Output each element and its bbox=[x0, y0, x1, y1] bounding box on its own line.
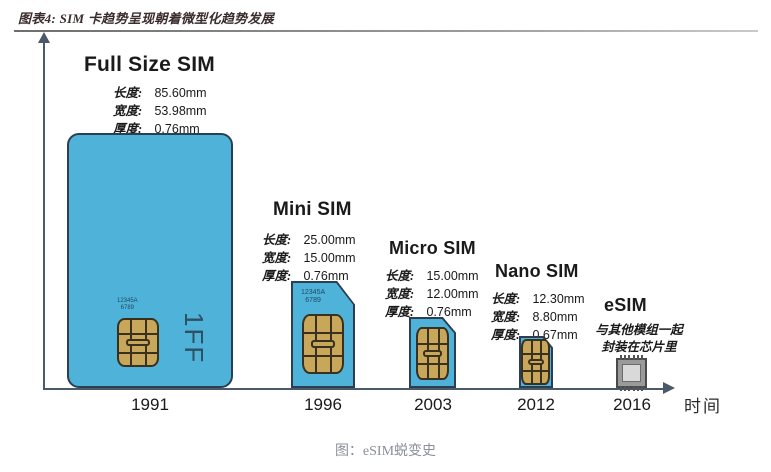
stage-title-full-size-sim: Full Size SIM bbox=[84, 53, 215, 77]
spec-label-length: 长度: bbox=[113, 84, 151, 102]
spec-row-width: 宽度: 53.98mm bbox=[113, 102, 207, 120]
spec-label-width: 宽度: bbox=[491, 308, 529, 326]
year-label-1991: 1991 bbox=[110, 395, 190, 415]
spec-label-width: 宽度: bbox=[385, 285, 423, 303]
spec-value-length: 12.30mm bbox=[532, 290, 584, 308]
figure-title: 图表4: SIM 卡趋势呈现朝着微型化趋势发展 bbox=[18, 8, 274, 27]
figure-caption: 图：eSIM蜕变史 bbox=[0, 440, 771, 460]
sim-card-nano bbox=[519, 336, 553, 388]
year-label-1996: 1996 bbox=[283, 395, 363, 415]
card-number-mini: 12345A 6789 bbox=[301, 289, 325, 304]
spec-row-width: 宽度: 12.00mm bbox=[385, 285, 479, 303]
card-number-line2: 6789 bbox=[305, 297, 321, 304]
spec-label-width: 宽度: bbox=[113, 102, 151, 120]
esim-note-line1: 与其他模组一起 bbox=[595, 323, 683, 337]
form-factor-label-1ff: 1FF bbox=[178, 312, 209, 364]
year-label-2003: 2003 bbox=[393, 395, 473, 415]
esim-chip-icon bbox=[616, 358, 647, 388]
esim-note-line2: 封装在芯片里 bbox=[601, 340, 676, 354]
spec-row-length: 长度: 85.60mm bbox=[113, 84, 207, 102]
stage-title-esim: eSIM bbox=[604, 295, 647, 316]
contact-chip-icon-mini bbox=[302, 314, 344, 374]
x-axis-arrow-icon bbox=[663, 382, 675, 394]
figure-canvas: 图表4: SIM 卡趋势呈现朝着微型化趋势发展 时间 Full Size SIM… bbox=[0, 0, 771, 472]
spec-label-length: 长度: bbox=[262, 231, 300, 249]
spec-row-length: 长度: 15.00mm bbox=[385, 267, 479, 285]
spec-value-width: 12.00mm bbox=[426, 285, 478, 303]
sim-card-micro bbox=[409, 317, 456, 388]
spec-row-length: 长度: 12.30mm bbox=[491, 290, 585, 308]
stage-title-nano-sim: Nano SIM bbox=[495, 261, 579, 282]
spec-value-width: 15.00mm bbox=[303, 249, 355, 267]
spec-list-micro-sim: 长度: 15.00mm 宽度: 12.00mm 厚度: 0.76mm bbox=[385, 267, 479, 321]
spec-row-width: 宽度: 15.00mm bbox=[262, 249, 356, 267]
contact-chip-icon-full-size bbox=[117, 318, 159, 367]
spec-list-full-size-sim: 长度: 85.60mm 宽度: 53.98mm 厚度: 0.76mm bbox=[113, 84, 207, 138]
spec-row-length: 长度: 25.00mm bbox=[262, 231, 356, 249]
y-axis-line bbox=[43, 40, 45, 390]
card-number-line1: 12345A bbox=[301, 289, 325, 296]
spec-value-length: 85.60mm bbox=[154, 84, 206, 102]
card-number-full-size: 12345A 6789 bbox=[117, 298, 138, 311]
sim-card-full-size: 12345A 6789 1FF bbox=[67, 133, 233, 388]
x-axis-line bbox=[43, 388, 668, 390]
sim-card-mini: 12345A 6789 bbox=[291, 281, 355, 388]
stage-title-mini-sim: Mini SIM bbox=[273, 199, 352, 221]
contact-chip-icon-nano bbox=[521, 339, 550, 385]
spec-list-mini-sim: 长度: 25.00mm 宽度: 15.00mm 厚度: 0.76mm bbox=[262, 231, 356, 285]
header-divider bbox=[14, 30, 758, 32]
spec-value-length: 15.00mm bbox=[426, 267, 478, 285]
spec-label-length: 长度: bbox=[385, 267, 423, 285]
spec-label-length: 长度: bbox=[491, 290, 529, 308]
year-label-2016: 2016 bbox=[592, 395, 672, 415]
spec-value-width: 53.98mm bbox=[154, 102, 206, 120]
spec-label-width: 宽度: bbox=[262, 249, 300, 267]
card-number-line2: 6789 bbox=[121, 305, 134, 311]
esim-note: 与其他模组一起 封装在芯片里 bbox=[587, 322, 691, 356]
year-label-2012: 2012 bbox=[496, 395, 576, 415]
contact-chip-icon-micro bbox=[416, 327, 449, 380]
spec-value-width: 8.80mm bbox=[532, 308, 577, 326]
spec-value-length: 25.00mm bbox=[303, 231, 355, 249]
stage-title-micro-sim: Micro SIM bbox=[389, 238, 476, 259]
card-number-line1: 12345A bbox=[117, 298, 138, 304]
spec-row-width: 宽度: 8.80mm bbox=[491, 308, 585, 326]
x-axis-label: 时间 bbox=[684, 392, 722, 417]
